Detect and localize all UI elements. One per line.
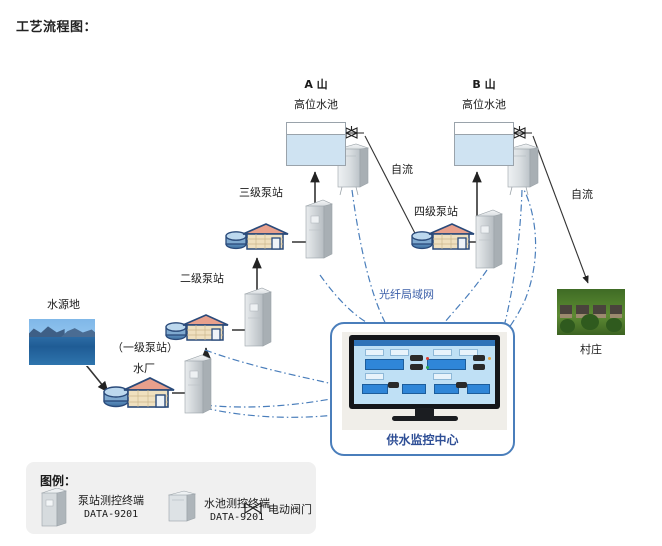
mountain-b-tank-label: 高位水池 [462,98,506,112]
monitor-bezel [349,335,501,409]
water-source-label: 水源地 [47,298,80,312]
scada-readout [433,349,452,356]
cabinet-tall-icon-plant [185,355,211,413]
water-plant-label: 水厂 [133,362,155,376]
legend-item-0-name: 泵站测控终端 [78,492,144,508]
diagram-canvas: 工艺流程图： [0,0,662,546]
pipe-pump4-to-tank-b [463,172,477,242]
scada-tank-block [402,384,427,394]
pump3-label: 三级泵站 [239,186,283,200]
scada-status-dot [488,357,491,360]
village-foliage [606,318,622,333]
pipe-tankb-to-village-gravity [533,136,588,283]
monitoring-center-panel: 供水监控中心 [330,322,515,456]
scada-pump-symbol [388,382,399,387]
scada-pump-symbol [456,382,467,387]
scada-tank-block [365,359,404,370]
scada-status-dot [426,366,429,369]
scada-title-bar [354,340,496,346]
scada-tank-block [467,384,490,394]
tank-b-water-level [455,134,513,165]
legend-cabinet-box-icon [166,490,200,526]
network-link-plant [205,398,336,407]
pipe-plant-to-pump2 [172,348,206,393]
scada-readout [433,373,452,380]
pump4-label: 四级泵站 [414,205,458,219]
mountain-b-title: B 山 [472,78,495,92]
pipe-tanka-to-pump4-gravity [365,136,420,243]
scada-pump-symbol [473,355,486,361]
legend-panel: 图例： 泵站测控终端 DATA-9201 水池测控终端 DATA-9201 电动… [26,462,316,534]
scada-pump-symbol [410,364,423,370]
gravity-flow-label-b: 自流 [571,188,593,202]
reservoir-tank-b [454,122,514,166]
village-foliage [560,319,575,333]
scada-pump-symbol [473,364,486,370]
scada-status-dot [426,357,429,360]
pump-station-house-icon-pump3 [226,224,288,249]
pump-station-house-icon-pump4 [412,224,474,249]
reservoir-tank-a [286,122,346,166]
cabinet-tall-icon-pump2 [245,288,271,346]
pump2-label: 二级泵站 [180,272,224,286]
village-foliage [581,314,599,331]
legend-item-2-name: 电动阀门 [268,501,312,517]
scada-screen [354,340,496,404]
village-label: 村庄 [580,343,602,357]
legend-cabinet-tall-icon [38,488,72,528]
scada-pump-symbol [410,355,423,361]
scada-readout [390,349,409,356]
water-plant-paren-label: （一级泵站） [112,341,178,355]
pump-station-house-icon-plant [104,378,174,407]
tank-a-water-level [287,134,345,165]
page-title: 工艺流程图： [16,16,97,35]
gravity-flow-label-a: 自流 [391,163,413,177]
water-source-photo [28,318,96,366]
monitoring-center-caption: 供水监控中心 [332,431,513,448]
mountain-a-title: A 山 [304,78,327,92]
legend-valve-icon [242,500,264,516]
scada-tank-block [362,384,388,394]
village-photo [556,288,626,336]
village-roof [560,305,573,318]
legend-title: 图例： [40,472,76,489]
legend-item-0-model: DATA-9201 [84,509,138,520]
monitor-photo [342,332,507,430]
fiber-lan-label: 光纤局域网 [379,288,434,302]
scada-readout [365,373,384,380]
village-roof [610,305,623,318]
pump-station-house-icon-pump2 [166,315,228,340]
pipe-pump2-to-pump3 [232,258,257,330]
scada-tank-block [427,359,466,370]
cabinet-tall-icon-pump4 [476,210,502,268]
cabinet-tall-icon-pump3 [306,200,332,258]
monitor-base [392,416,458,421]
scada-readout [365,349,384,356]
pipe-pump3-to-tank-a [292,172,315,242]
mountain-a-tank-label: 高位水池 [294,98,338,112]
